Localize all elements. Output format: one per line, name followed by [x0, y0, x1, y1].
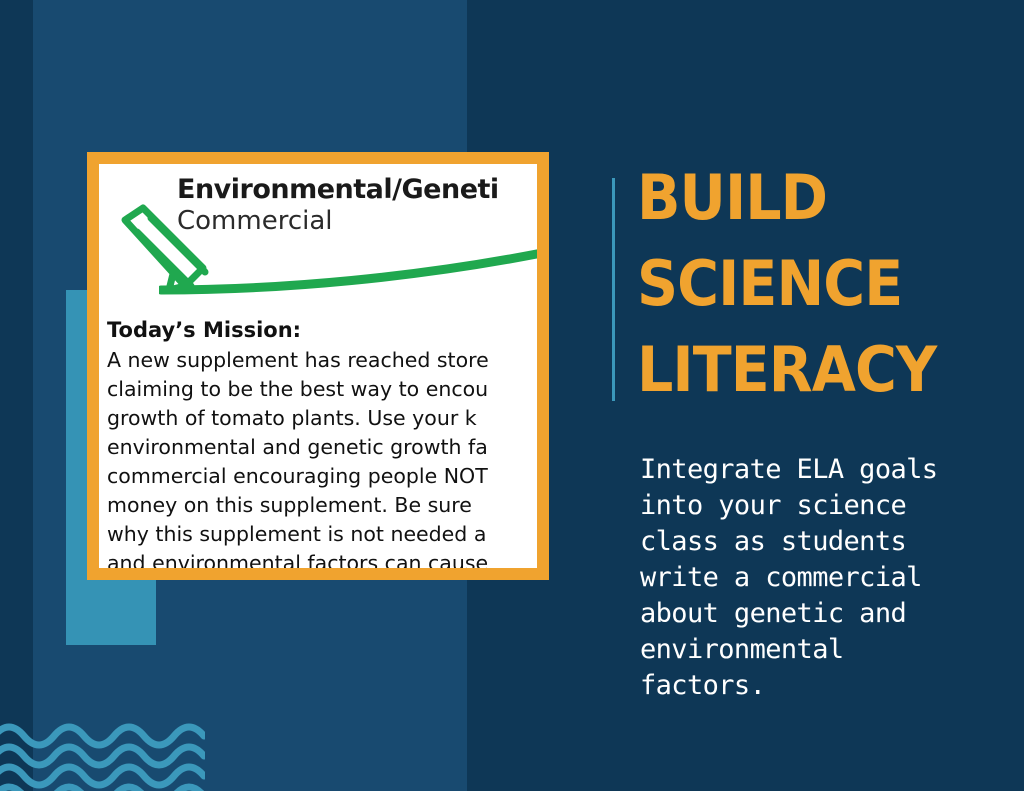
worksheet-body-line: claiming to be the best way to encou [107, 375, 537, 404]
worksheet-mission-label: Today’s Mission: [107, 316, 537, 345]
description-text: Integrate ELA goals into your science cl… [640, 452, 1012, 704]
worksheet-image-frame[interactable]: Environmental/Geneti Commercial Today’s … [87, 152, 549, 580]
page-title-line: LITERACY [637, 327, 987, 413]
worksheet-body-text: Today’s Mission: A new supplement has re… [107, 316, 537, 568]
description-line: class as students [640, 524, 1012, 560]
page-title-line: BUILD [637, 155, 987, 241]
worksheet-body-line: commercial encouraging people NOT [107, 462, 537, 491]
background-left-strip [0, 0, 33, 791]
worksheet-body-line: A new supplement has reached store [107, 346, 537, 375]
worksheet-heading: Environmental/Geneti [177, 174, 499, 205]
headline-accent-rule [612, 178, 615, 401]
description-line: Integrate ELA goals [640, 452, 1012, 488]
worksheet-subheading: Commercial [177, 206, 333, 236]
description-line: into your science [640, 488, 1012, 524]
description-line: about genetic and [640, 596, 1012, 632]
worksheet-body-line: money on this supplement. Be sure [107, 491, 537, 520]
worksheet-paper: Environmental/Geneti Commercial Today’s … [99, 164, 537, 568]
worksheet-body-line: growth of tomato plants. Use your k [107, 404, 537, 433]
worksheet-body-line: why this supplement is not needed a [107, 520, 537, 549]
page-title: BUILD SCIENCE LITERACY [637, 155, 987, 413]
slide-canvas: Environmental/Geneti Commercial Today’s … [0, 0, 1024, 791]
worksheet-body-line: environmental and genetic growth fa [107, 433, 537, 462]
description-line: factors. [640, 668, 1012, 704]
description-line: write a commercial [640, 560, 1012, 596]
wave-decoration [0, 723, 205, 791]
worksheet-body-line: and environmental factors can cause [107, 549, 537, 568]
page-title-line: SCIENCE [637, 241, 987, 327]
description-line: environmental [640, 632, 1012, 668]
